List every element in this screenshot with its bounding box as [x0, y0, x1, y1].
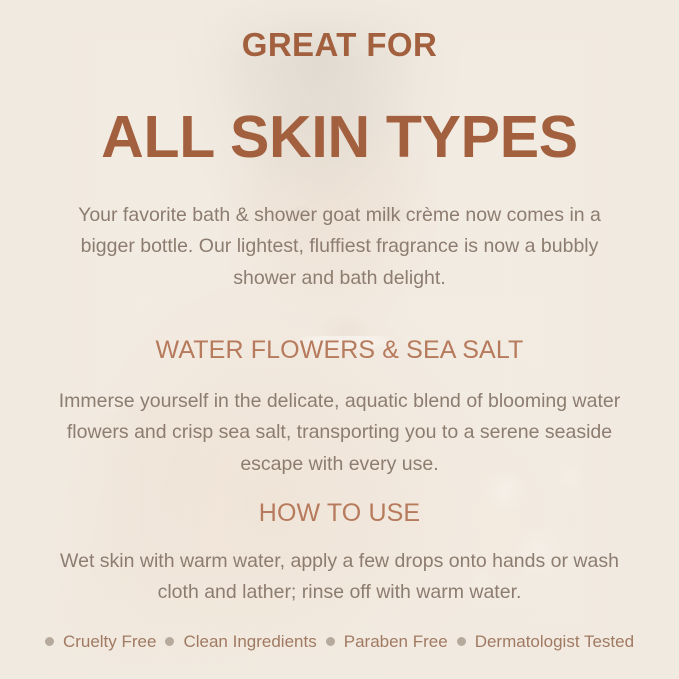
section-body-scent: Immerse yourself in the delicate, aquati…: [38, 386, 641, 481]
panel-content: GREAT FOR ALL SKIN TYPES Your favorite b…: [0, 0, 679, 679]
claim-dermatologist-tested: Dermatologist Tested: [475, 633, 634, 650]
bullet-dot-icon: [326, 637, 335, 646]
eyebrow-heading: GREAT FOR: [0, 28, 679, 61]
section-heading-how-to-use: HOW TO USE: [0, 501, 679, 526]
product-info-panel: GREAT FOR ALL SKIN TYPES Your favorite b…: [0, 0, 679, 679]
claim-clean-ingredients: Clean Ingredients: [183, 633, 316, 650]
claims-bar: Cruelty Free Clean Ingredients Paraben F…: [0, 633, 679, 650]
bullet-dot-icon: [457, 637, 466, 646]
bullet-dot-icon: [165, 637, 174, 646]
claim-paraben-free: Paraben Free: [344, 633, 448, 650]
bullet-dot-icon: [45, 637, 54, 646]
section-body-how-to-use: Wet skin with warm water, apply a few dr…: [38, 546, 641, 609]
claim-cruelty-free: Cruelty Free: [63, 633, 157, 650]
intro-paragraph: Your favorite bath & shower goat milk cr…: [76, 200, 603, 295]
page-title: ALL SKIN TYPES: [0, 106, 679, 170]
section-heading-scent: WATER FLOWERS & SEA SALT: [0, 338, 679, 363]
